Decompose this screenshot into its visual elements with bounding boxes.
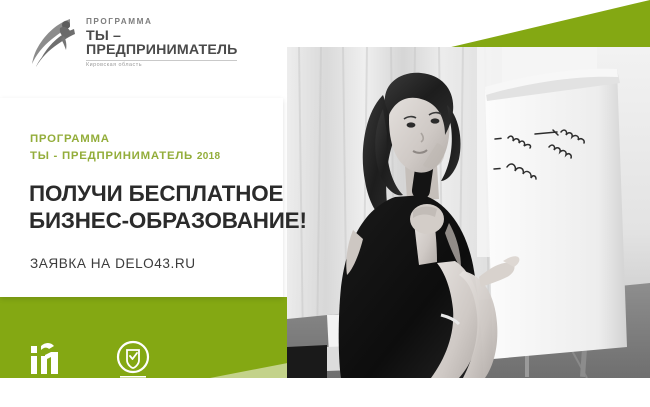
cta-text[interactable]: ЗАЯВКА НА DELO43.RU — [30, 256, 196, 271]
speaker-photo-illustration — [287, 47, 650, 378]
header-logo-line2: ТЫ – ПРЕДПРИНИМАТЕЛЬ — [86, 29, 237, 57]
header-logo-line1: ПРОГРАММА — [86, 18, 237, 26]
eyebrow-text: ПРОГРАММА ТЫ - ПРЕДПРИНИМАТЕЛЬ 2018 — [30, 131, 220, 165]
running-entrepreneur-logo-mark-icon — [30, 17, 78, 67]
header-logo-line3: Кировская область — [86, 63, 237, 68]
page-title: ПОЛУЧИ БЕСПЛАТНОЕ БИЗНЕС-ОБРАЗОВАНИЕ! — [29, 180, 307, 234]
headline-line1: ПОЛУЧИ БЕСПЛАТНОЕ — [29, 181, 283, 206]
speaker-photo — [287, 47, 650, 378]
headline-line2: БИЗНЕС-ОБРАЗОВАНИЕ! — [29, 208, 307, 233]
eyebrow-line1: ПРОГРАММА — [30, 133, 110, 145]
eyebrow-year: 2018 — [197, 151, 220, 162]
shield-badge-logo-icon — [114, 340, 152, 384]
header-logo: ПРОГРАММА ТЫ – ПРЕДПРИНИМАТЕЛЬ Кировская… — [30, 16, 230, 68]
eyebrow-line2: ТЫ - ПРЕДПРИНИМАТЕЛЬ — [30, 150, 197, 162]
footer-logos — [30, 340, 152, 384]
promo-banner: ПРОГРАММА ТЫ – ПРЕДПРИНИМАТЕЛЬ Кировская… — [0, 0, 650, 407]
header-logo-divider — [86, 60, 237, 61]
text-panel: ПРОГРАММА ТЫ - ПРЕДПРИНИМАТЕЛЬ 2018 ПОЛУ… — [0, 98, 283, 297]
entrepreneur-monogram-logo-icon — [30, 340, 70, 384]
green-wedge-top-decoration — [447, 0, 650, 48]
